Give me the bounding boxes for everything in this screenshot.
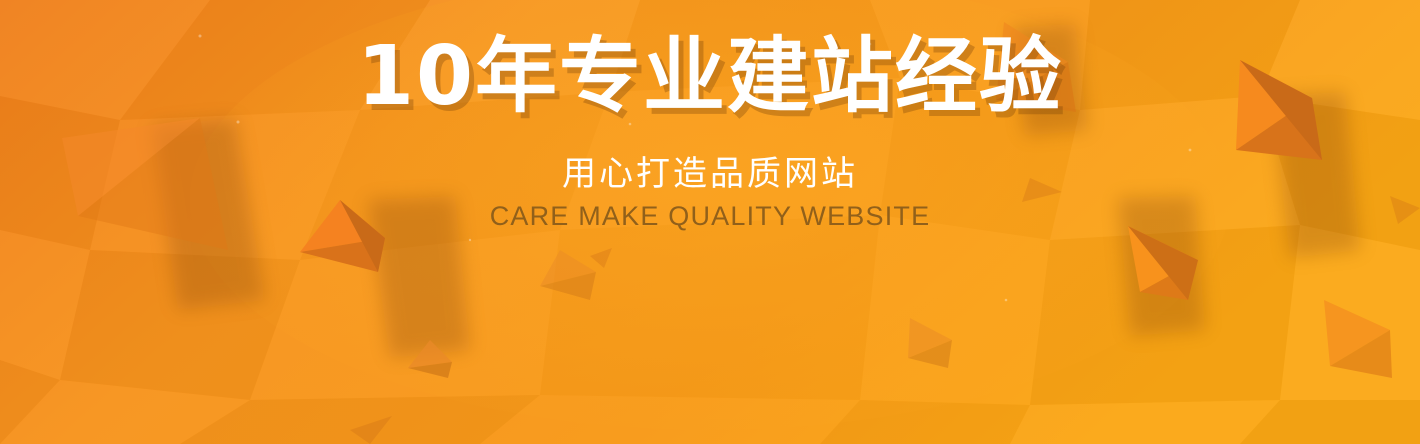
page-title: 10年专业建站经验	[0, 36, 1420, 118]
promo-banner: 10年专业建站经验 用心打造品质网站 CARE MAKE QUALITY WEB…	[0, 0, 1420, 444]
subtitle-english: CARE MAKE QUALITY WEBSITE	[0, 201, 1420, 232]
feature-device-group: 高效 Efficient	[0, 250, 1420, 444]
banner-content: 10年专业建站经验 用心打造品质网站 CARE MAKE QUALITY WEB…	[0, 0, 1420, 444]
subtitle-chinese: 用心打造品质网站	[0, 155, 1420, 194]
